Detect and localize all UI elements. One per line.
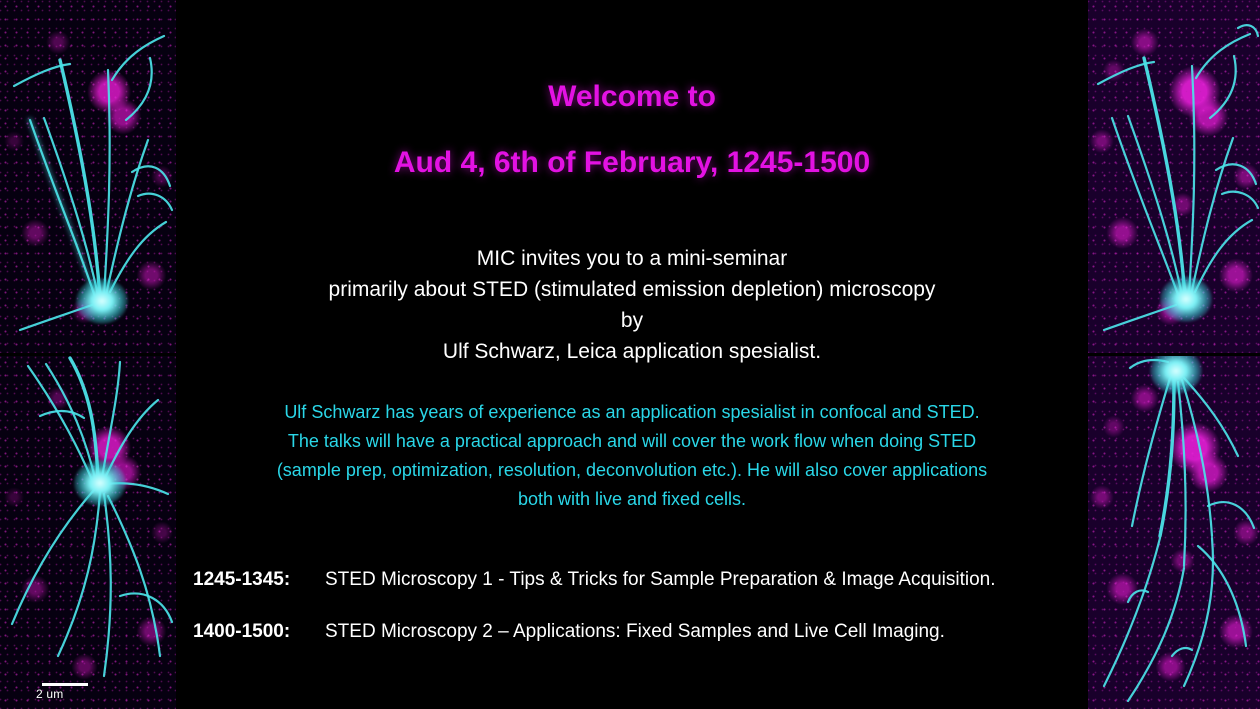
microscopy-image-strip-right [1088, 0, 1260, 709]
microscopy-panel-left-bottom: 2 um [0, 356, 176, 709]
presentation-slide: 2 um Welcome to Aud 4, 6th of February, … [0, 0, 1260, 709]
invitation-line-2: primarily about STED (stimulated emissio… [176, 274, 1088, 305]
invitation-line-1: MIC invites you to a mini-seminar [176, 243, 1088, 274]
biography-block: Ulf Schwarz has years of experience as a… [190, 398, 1074, 514]
invitation-line-3: by [176, 305, 1088, 336]
microscopy-panel-right-bottom [1088, 356, 1260, 709]
schedule-description: STED Microscopy 1 - Tips & Tricks for Sa… [325, 566, 996, 594]
schedule-time: 1400-1500: [193, 618, 325, 646]
filament-hub [1160, 276, 1212, 322]
microscopy-panel-right-top [1088, 0, 1260, 353]
schedule-time: 1245-1345: [193, 566, 325, 594]
slide-content: Welcome to Aud 4, 6th of February, 1245-… [176, 0, 1088, 709]
filament-hub [74, 460, 126, 506]
biography-line-3: (sample prep, optimization, resolution, … [190, 456, 1074, 485]
filament-hub [76, 278, 128, 324]
microscopy-image-strip-left: 2 um [0, 0, 176, 709]
schedule-row: 1400-1500: STED Microscopy 2 – Applicati… [193, 618, 1083, 646]
biography-line-4: both with live and fixed cells. [190, 485, 1074, 514]
title-line-venue-date: Aud 4, 6th of February, 1245-1500 [176, 144, 1088, 182]
cyan-filament-overlay [0, 356, 176, 709]
cyan-filament-overlay [1088, 356, 1260, 709]
biography-line-2: The talks will have a practical approach… [190, 427, 1074, 456]
microscopy-panel-left-top [0, 0, 176, 353]
schedule-list: 1245-1345: STED Microscopy 1 - Tips & Tr… [193, 566, 1083, 670]
schedule-row: 1245-1345: STED Microscopy 1 - Tips & Tr… [193, 566, 1083, 594]
schedule-description: STED Microscopy 2 – Applications: Fixed … [325, 618, 945, 646]
biography-line-1: Ulf Schwarz has years of experience as a… [190, 398, 1074, 427]
invitation-block: MIC invites you to a mini-seminar primar… [176, 243, 1088, 367]
title-line-welcome: Welcome to [176, 78, 1088, 116]
scale-bar-line [42, 683, 88, 686]
slide-title: Welcome to Aud 4, 6th of February, 1245-… [176, 78, 1088, 182]
scale-bar-label: 2 um [36, 688, 132, 701]
invitation-line-4: Ulf Schwarz, Leica application spesialis… [176, 336, 1088, 367]
scale-bar: 2 um [36, 683, 132, 701]
